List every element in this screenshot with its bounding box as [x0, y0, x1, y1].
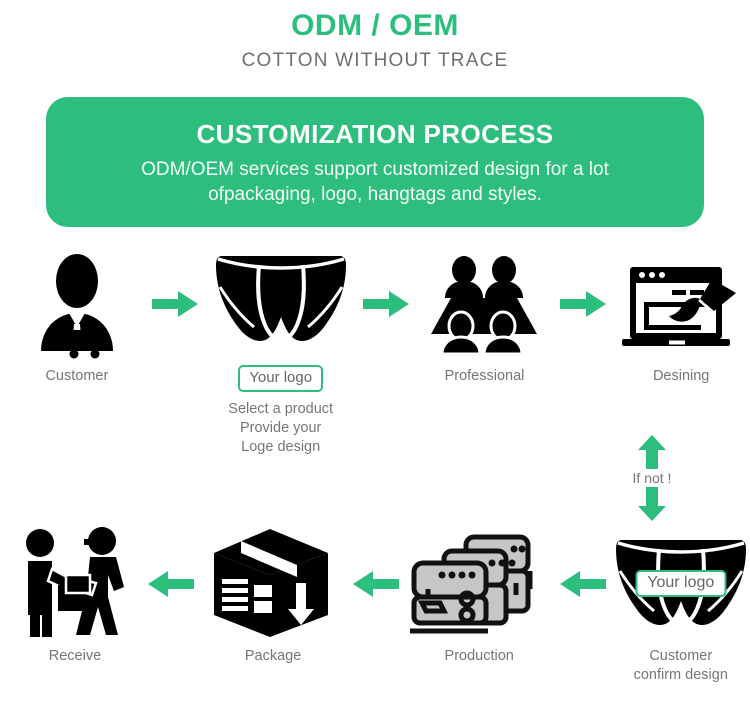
desining-art [616, 249, 746, 359]
your-logo-badge-top: Your logo [238, 365, 323, 392]
step-desining: Desining [612, 249, 750, 386]
customization-process-banner: CUSTOMIZATION PROCESS ODM/OEM services s… [46, 97, 704, 227]
page-title: ODM / OEM [0, 8, 750, 44]
package-art [210, 529, 336, 639]
caption-desining: Desining [653, 367, 709, 386]
caption-professional: Professional [445, 367, 525, 386]
arrow-left-icon [560, 571, 606, 597]
arrow-down-icon [638, 487, 666, 521]
shipping-box-icon [210, 527, 336, 639]
caption-customer: Customer [45, 367, 108, 386]
step-customer: Customer [8, 249, 146, 386]
caption-package: Package [245, 647, 301, 666]
step-professional: Professional [416, 249, 554, 386]
arrow-right-icon [152, 291, 198, 317]
process-flow-top-row: Customer [0, 249, 750, 457]
sewing-machines-icon [404, 527, 554, 639]
page-header: ODM / OEM COTTON WITHOUT TRACE [0, 0, 750, 76]
briefs-icon [212, 251, 350, 359]
if-not-connector: If not ! [592, 435, 712, 521]
arrow-package-to-receive [142, 529, 199, 639]
laptop-paintbrush-icon [616, 259, 746, 359]
arrow-professional-to-desining [553, 249, 612, 359]
businessman-with-cart-icon [29, 251, 125, 359]
your-logo-badge-bottom: Your logo [635, 570, 726, 597]
meeting-team-icon [429, 254, 539, 359]
odm-oem-process-infographic: ODM / OEM COTTON WITHOUT TRACE CUSTOMIZA… [0, 0, 750, 713]
arrow-right-icon [560, 291, 606, 317]
briefs-art [212, 249, 350, 359]
step-production: Production [404, 529, 554, 666]
caption-customer-confirm: Customer confirm design [634, 647, 728, 685]
if-not-label: If not ! [633, 470, 672, 486]
production-art [404, 529, 554, 639]
process-flow: Customer [0, 249, 750, 685]
step-package: Package [199, 529, 347, 666]
handover-parcel-icon [14, 527, 136, 639]
caption-production: Production [445, 647, 514, 666]
confirm-briefs-art: Your logo [612, 529, 750, 639]
arrow-up-icon [638, 435, 666, 469]
caption-select-product: Select a product Provide your Loge desig… [228, 400, 333, 457]
step-receive: Receive [8, 529, 142, 666]
step-customer-confirm: Your logo Customer confirm design [611, 529, 750, 685]
arrow-confirm-to-production [554, 529, 611, 639]
arrow-production-to-package [347, 529, 404, 639]
caption-receive: Receive [49, 647, 101, 666]
arrow-left-icon [353, 571, 399, 597]
customer-art [29, 249, 125, 359]
arrow-right-icon [363, 291, 409, 317]
arrow-left-icon [148, 571, 194, 597]
step-select-product: Your logo Select a product Provide your … [205, 249, 357, 457]
page-subtitle: COTTON WITHOUT TRACE [0, 46, 750, 76]
banner-description: ODM/OEM services support customized desi… [46, 157, 704, 207]
professional-art [429, 249, 539, 359]
banner-title: CUSTOMIZATION PROCESS [46, 118, 704, 150]
arrow-product-to-professional [357, 249, 416, 359]
arrow-customer-to-product [146, 249, 205, 359]
receive-art [14, 529, 136, 639]
process-flow-bottom-row: Receive [0, 529, 750, 685]
